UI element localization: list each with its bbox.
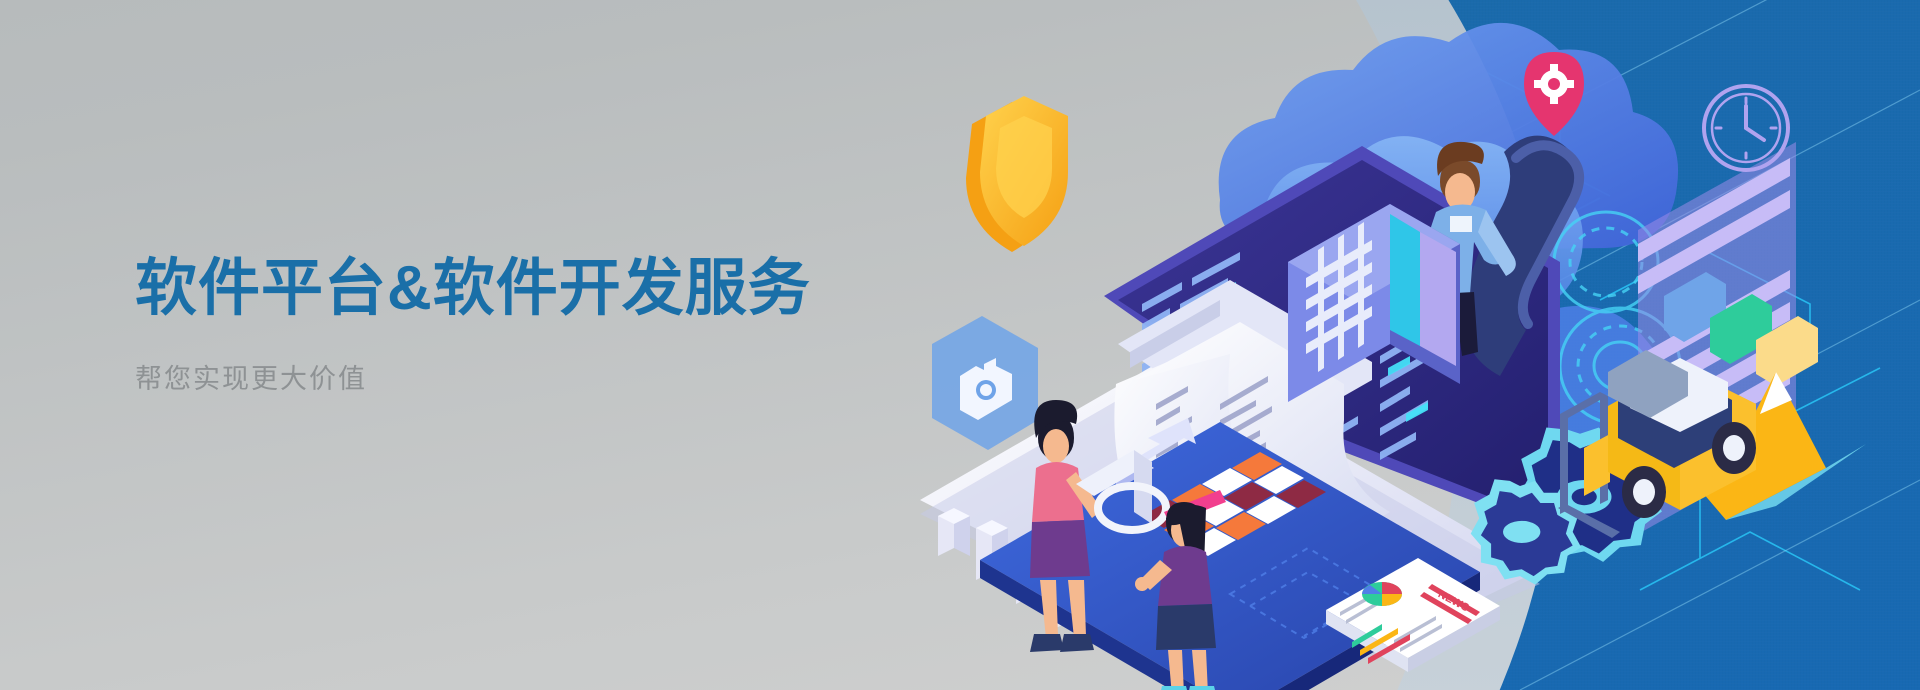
shield-icon bbox=[966, 96, 1068, 252]
camera-icon bbox=[932, 316, 1038, 450]
clock-icon bbox=[1704, 86, 1788, 170]
pie-chart-icon bbox=[1362, 582, 1402, 606]
hero-banner: 软件平台&软件开发服务 帮您实现更大价值 bbox=[0, 0, 1920, 690]
hero-illustration: NEWS bbox=[920, 0, 1920, 690]
page-subtitle: 帮您实现更大价值 bbox=[135, 363, 895, 395]
banner-copy: 软件平台&软件开发服务 帮您实现更大价值 bbox=[135, 255, 895, 396]
page-title: 软件平台&软件开发服务 bbox=[135, 255, 895, 323]
